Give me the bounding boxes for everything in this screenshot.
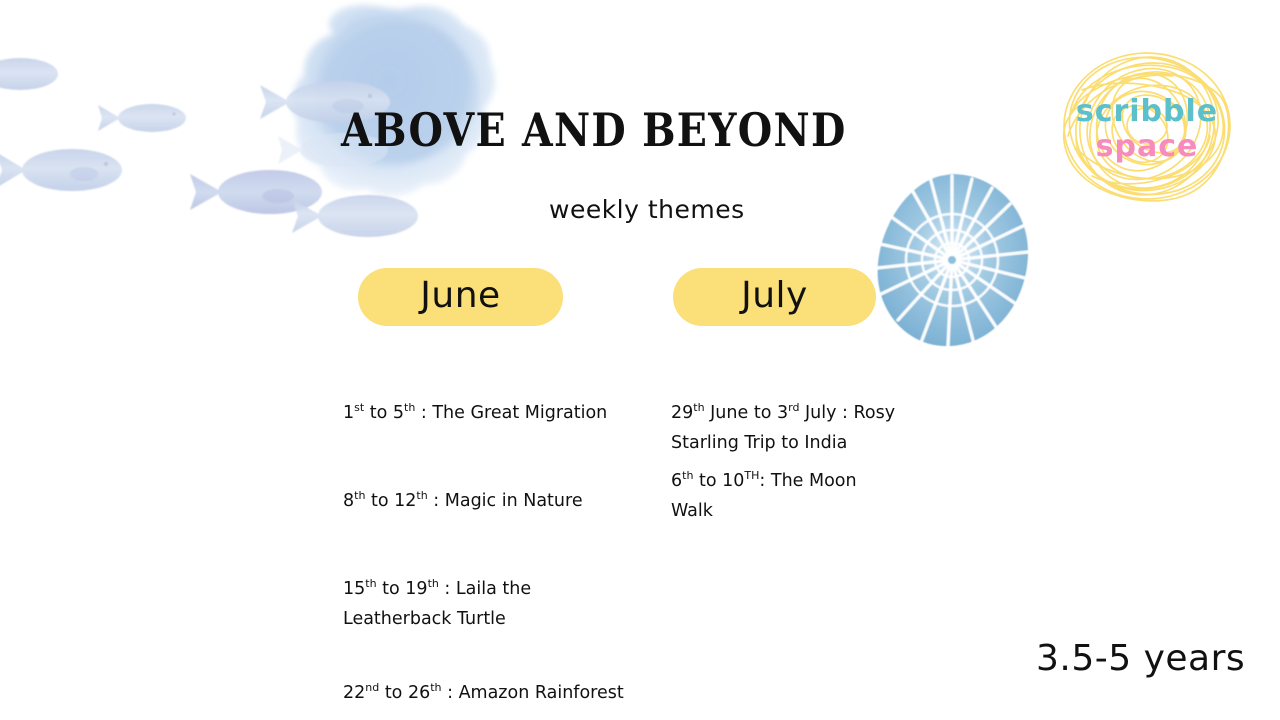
month-pill-july-label: July: [741, 278, 808, 317]
ammonite-shell-icon: [868, 168, 1036, 353]
age-range-badge: 3.5-5 years: [1036, 638, 1245, 679]
ordinal-suffix: nd: [365, 681, 379, 694]
ordinal-suffix: th: [354, 489, 365, 502]
ordinal-suffix: th: [404, 401, 415, 414]
theme-item: 29th June to 3rd July : Rosy Starling Tr…: [671, 398, 896, 458]
page-subtitle: weekly themes: [549, 195, 745, 224]
theme-item: 1st to 5th : The Great Migration: [343, 398, 643, 428]
ordinal-suffix: th: [682, 469, 693, 482]
ordinal-suffix: rd: [788, 401, 799, 414]
theme-item: 22nd to 26th : Amazon Rainforest: [343, 678, 643, 708]
month-pill-june-label: June: [420, 278, 500, 317]
scribble-space-logo[interactable]: scribble space: [1052, 44, 1242, 209]
page-title: ABOVE AND BEYOND: [341, 104, 685, 156]
month-pill-july[interactable]: July: [673, 268, 876, 326]
july-theme-list: 29th June to 3rd July : Rosy Starling Tr…: [671, 398, 896, 534]
logo-word-space: space: [1052, 129, 1242, 164]
month-pill-june[interactable]: June: [358, 268, 563, 326]
ordinal-suffix: th: [428, 577, 439, 590]
ordinal-suffix: th: [693, 401, 704, 414]
june-theme-list: 1st to 5th : The Great Migration8th to 1…: [343, 398, 643, 720]
slide-canvas: scribble space ABOVE AND BEYOND weekly t…: [0, 0, 1280, 720]
ordinal-suffix: TH: [744, 469, 759, 482]
theme-item: 8th to 12th : Magic in Nature: [343, 486, 643, 516]
ordinal-suffix: th: [430, 681, 441, 694]
logo-word-scribble: scribble: [1052, 94, 1242, 129]
ordinal-suffix: st: [354, 401, 364, 414]
ordinal-suffix: th: [365, 577, 376, 590]
ordinal-suffix: th: [416, 489, 427, 502]
theme-item: 15th to 19th : Laila the Leatherback Tur…: [343, 574, 643, 634]
theme-item: 6th to 10TH: The Moon Walk: [671, 466, 896, 526]
